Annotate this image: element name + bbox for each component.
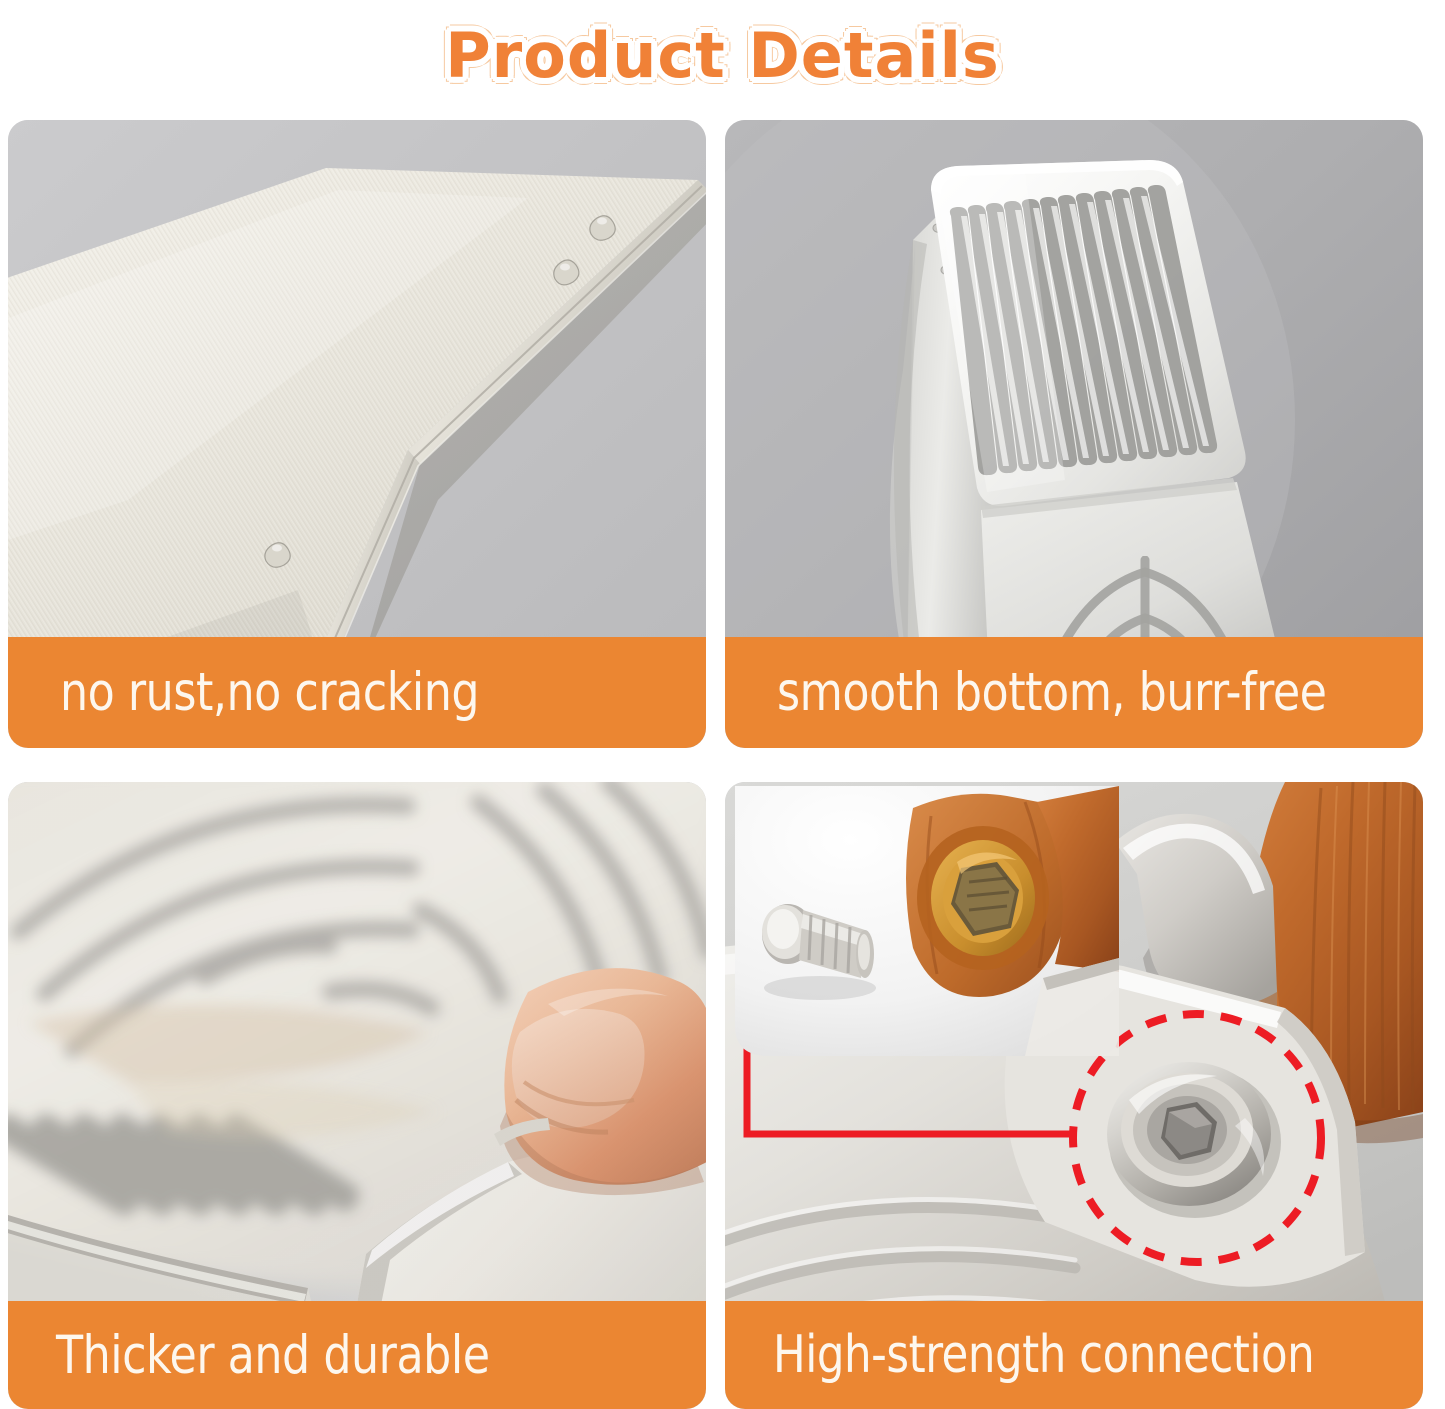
detail-card-smooth-bottom[interactable]: smooth bottom, burr-free (725, 120, 1423, 748)
caption-text: High-strength connection (773, 1325, 1314, 1385)
detail-card-thicker-durable[interactable]: Thicker and durable (8, 782, 706, 1409)
detail-card-high-strength[interactable]: High-strength connection (725, 782, 1423, 1409)
page-header: Product Details (0, 0, 1445, 112)
product-details-grid: no rust,no cracking (8, 120, 1437, 1409)
inset-callout (735, 786, 1119, 1056)
detail-card-no-rust[interactable]: no rust,no cracking (8, 120, 706, 748)
caption-text: Thicker and durable (56, 1325, 490, 1386)
page-title: Product Details (445, 25, 1000, 87)
caption-text: no rust,no cracking (60, 662, 479, 723)
caption-text: smooth bottom, burr-free (777, 662, 1326, 723)
caption-bar-high-strength: High-strength connection (725, 1301, 1423, 1409)
caption-bar-no-rust: no rust,no cracking (8, 637, 706, 748)
caption-bar-smooth-bottom: smooth bottom, burr-free (725, 637, 1423, 748)
caption-bar-thicker-durable: Thicker and durable (8, 1301, 706, 1409)
